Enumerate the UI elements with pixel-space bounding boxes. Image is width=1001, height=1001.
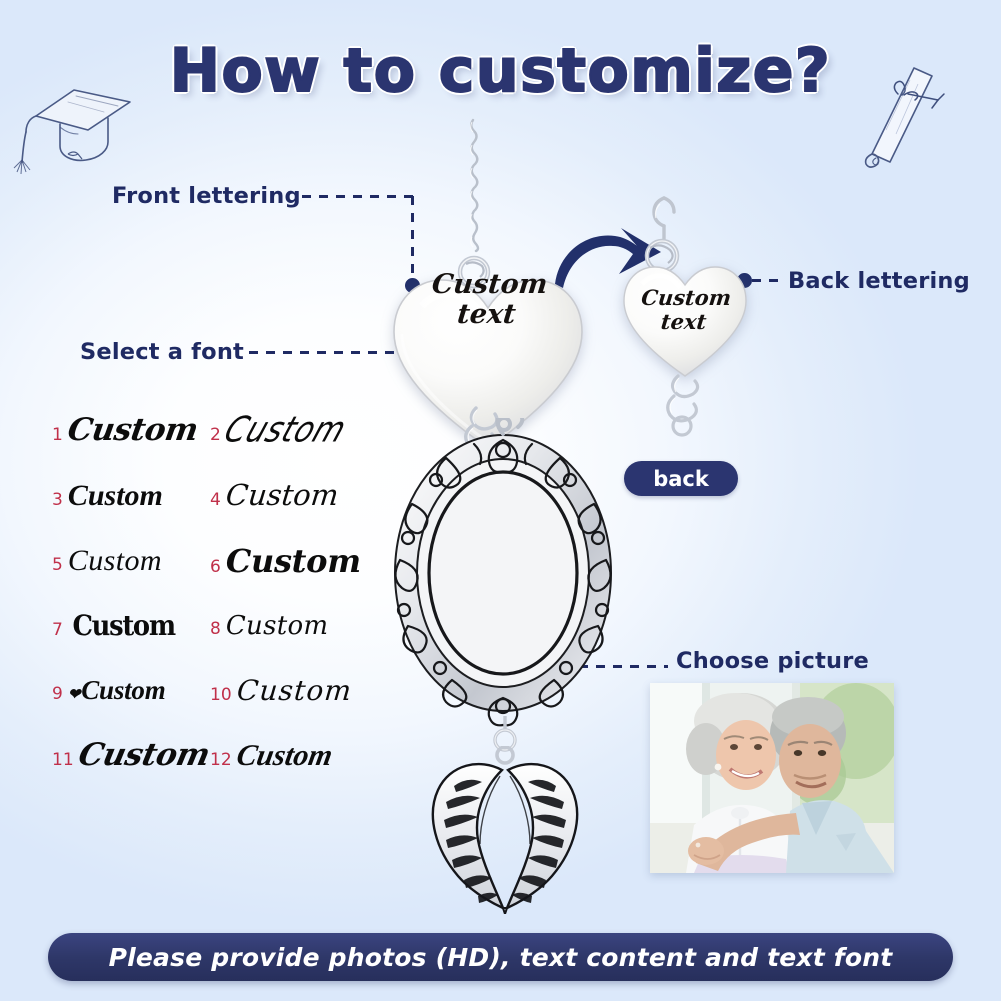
pendant-front-assembly: Custom text bbox=[370, 118, 640, 908]
font-option-9[interactable]: 9 ❤Custom bbox=[52, 677, 210, 704]
font-option-number: 12 bbox=[210, 750, 232, 770]
connector-bail-icon bbox=[658, 374, 710, 440]
label-front-lettering: Front lettering bbox=[112, 183, 301, 209]
font-option-6[interactable]: 6 Custom bbox=[210, 545, 382, 577]
font-option-sample: Custom bbox=[234, 741, 334, 771]
engraving-line-2: text bbox=[385, 300, 588, 330]
reference-photo-couple bbox=[650, 683, 894, 873]
font-option-number: 6 bbox=[210, 557, 221, 577]
heart-pendant-back-engraving: Custom text bbox=[618, 286, 753, 333]
font-option-sample: Custom bbox=[72, 612, 174, 640]
font-option-2[interactable]: 2 Custom bbox=[210, 416, 382, 446]
font-option-5[interactable]: 5 Custom bbox=[52, 546, 210, 576]
back-side-badge: back bbox=[624, 461, 738, 496]
font-option-sample: Custom bbox=[235, 677, 353, 705]
font-option-sample: ❤Custom bbox=[68, 677, 166, 704]
angel-wings-charm-icon bbox=[410, 746, 600, 914]
label-select-a-font: Select a font bbox=[80, 339, 244, 365]
font-option-number: 11 bbox=[52, 750, 74, 770]
engraving-line-1: Custom bbox=[640, 285, 732, 310]
font-option-sample: Custom bbox=[65, 415, 199, 446]
font-option-number: 1 bbox=[52, 425, 63, 445]
bottom-notice-text: Please provide photos (HD), text content… bbox=[109, 943, 893, 972]
font-option-11[interactable]: 11 Custom bbox=[52, 740, 210, 771]
heart-glyph-icon: ❤ bbox=[68, 687, 80, 703]
font-option-number: 3 bbox=[52, 490, 63, 510]
font-option-1[interactable]: 1 Custom bbox=[52, 415, 210, 446]
font-option-sample: Custom bbox=[224, 481, 339, 510]
font-option-number: 2 bbox=[210, 425, 221, 445]
font-option-number: 4 bbox=[210, 490, 221, 510]
page-title: How to customize? bbox=[0, 36, 1001, 106]
font-option-sample-text: Custom bbox=[81, 675, 165, 705]
font-option-8[interactable]: 8 Custom bbox=[210, 613, 382, 639]
font-option-sample: Custom bbox=[75, 740, 212, 771]
font-option-10[interactable]: 10 Custom bbox=[210, 677, 382, 705]
font-option-number: 5 bbox=[52, 555, 63, 575]
font-option-4[interactable]: 4 Custom bbox=[210, 481, 382, 510]
font-option-sample: Custom bbox=[226, 545, 361, 577]
font-option-7[interactable]: 7 Custom bbox=[52, 612, 210, 640]
font-option-sample: Custom bbox=[219, 413, 350, 448]
bottom-notice-banner: Please provide photos (HD), text content… bbox=[48, 933, 953, 981]
engraving-line-2: text bbox=[618, 310, 750, 334]
label-back-lettering: Back lettering bbox=[788, 268, 970, 294]
diploma-scroll-icon bbox=[852, 58, 956, 178]
pendant-back-assembly: Custom text bbox=[620, 196, 770, 446]
font-option-sample: Custom bbox=[68, 546, 162, 576]
font-option-sample: Custom bbox=[68, 481, 163, 511]
font-option-number: 10 bbox=[210, 685, 232, 705]
page-title-text: How to customize? bbox=[164, 36, 837, 106]
font-option-sample: Custom bbox=[226, 613, 329, 639]
font-option-number: 7 bbox=[52, 620, 63, 640]
engraving-line-1: Custom bbox=[430, 269, 549, 300]
back-side-badge-label: back bbox=[653, 467, 709, 491]
font-option-number: 8 bbox=[210, 619, 221, 639]
font-option-3[interactable]: 3 Custom bbox=[52, 481, 210, 511]
font-options-list: 1 Custom 2 Custom 3 Custom 4 Custom 5 Cu… bbox=[52, 398, 382, 788]
heart-pendant-front-engraving: Custom text bbox=[385, 270, 591, 330]
ornate-oval-frame-icon bbox=[378, 418, 628, 728]
label-choose-picture: Choose picture bbox=[676, 648, 869, 674]
font-option-number: 9 bbox=[52, 684, 63, 704]
font-option-12[interactable]: 12 Custom bbox=[210, 741, 382, 771]
chain-icon bbox=[452, 118, 492, 268]
